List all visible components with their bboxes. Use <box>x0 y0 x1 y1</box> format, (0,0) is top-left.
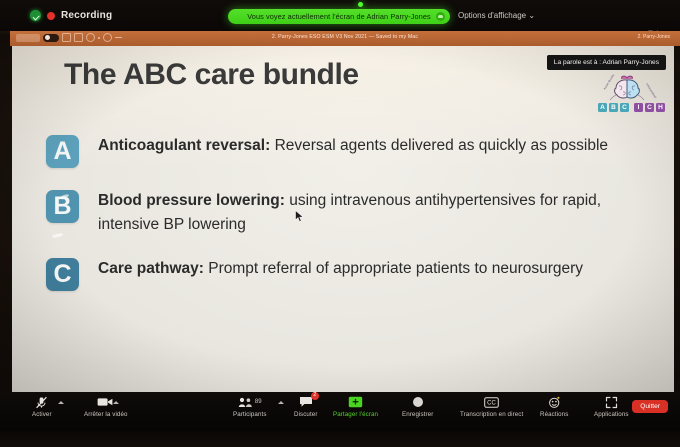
reactions-label: Réactions <box>540 411 568 418</box>
chat-unread-badge: 2 <box>311 392 319 400</box>
svg-text:Intracerebral: Intracerebral <box>645 82 657 99</box>
webcam-led-icon <box>358 2 363 7</box>
slide-title: The ABC care bundle <box>64 58 359 92</box>
powerpoint-title-bar: 2. Parry-Jones ESO ESM V3 Nov 2021 — Sav… <box>10 31 680 46</box>
applications-button[interactable]: Applications <box>594 395 629 418</box>
logo-tile-i: I <box>634 103 643 112</box>
video-camera-icon <box>97 395 114 409</box>
participants-options-chevron-icon[interactable] <box>278 401 284 404</box>
logo-tile-a: A <box>598 103 607 112</box>
bullet-heading-b: Blood pressure lowering: <box>98 192 285 209</box>
record-icon <box>412 395 424 409</box>
monitor-bezel <box>0 431 680 447</box>
applications-label: Applications <box>594 411 629 418</box>
brain-illustration-icon: Acute Bundle Intracerebral <box>596 70 658 104</box>
leave-meeting-button[interactable]: Quitter <box>632 400 668 413</box>
screen-share-banner-text: Vous voyez actuellement l'écran de Adria… <box>247 12 431 21</box>
share-screen-icon <box>348 395 363 409</box>
display-options-button[interactable]: Options d'affichage ⌄ <box>458 11 535 20</box>
video-options-chevron-icon[interactable] <box>113 401 119 404</box>
bullet-text-a: Anticoagulant reversal: Reversal agents … <box>98 134 608 158</box>
bullet-heading-c: Care pathway: <box>98 260 204 277</box>
live-transcript-label: Transcription en direct <box>460 411 523 418</box>
abc-ich-brain-logo: Acute Bundle Intracerebral A B C I C H <box>596 70 658 112</box>
audio-options-chevron-icon[interactable] <box>58 401 64 404</box>
share-screen-button[interactable]: Partager l'écran <box>333 395 378 418</box>
care-bundle-list: A Anticoagulant reversal: Reversal agent… <box>46 134 660 312</box>
participants-count: 89 <box>255 399 262 405</box>
bullet-heading-a: Anticoagulant reversal: <box>98 137 270 154</box>
reactions-icon <box>548 395 561 409</box>
zoom-bottom-toolbar: Activer Arrêter la vidéo <box>0 392 680 447</box>
mute-button[interactable]: Activer <box>32 395 52 418</box>
presentation-slide[interactable]: The ABC care bundle La parole est à : Ad… <box>12 46 674 392</box>
abc-ich-letter-tiles: A B C I C H <box>598 103 665 112</box>
applications-icon <box>605 395 618 409</box>
list-item: B Blood pressure lowering: using intrave… <box>46 189 660 236</box>
participants-label: Participants <box>233 411 267 418</box>
powerpoint-user-label: 2. Parry-Jones <box>637 34 670 40</box>
participants-icon: 89 <box>238 395 262 409</box>
mute-button-label: Activer <box>32 411 52 418</box>
logo-tile-h: H <box>656 103 665 112</box>
chat-bubble-icon: 2 <box>299 395 313 409</box>
reactions-button[interactable]: Réactions <box>540 395 568 418</box>
recording-indicator: Recording <box>30 10 112 21</box>
bullet-body-c: Prompt referral of appropriate patients … <box>204 260 583 277</box>
bullet-body-a: Reversal agents delivered as quickly as … <box>270 137 608 154</box>
logo-tile-c2: C <box>645 103 654 112</box>
bullet-tile-c: C <box>46 258 79 291</box>
logo-tile-b: B <box>609 103 618 112</box>
list-item: A Anticoagulant reversal: Reversal agent… <box>46 134 660 168</box>
bullet-tile-a: A <box>46 135 79 168</box>
microphone-muted-icon <box>35 395 48 409</box>
mouse-cursor <box>295 210 304 223</box>
bullet-text-c: Care pathway: Prompt referral of appropr… <box>98 257 583 281</box>
active-speaker-badge: La parole est à : Adrian Parry-Jones <box>547 55 666 70</box>
zoom-top-bar: Recording Vous voyez actuellement l'écra… <box>0 0 680 31</box>
logo-tile-c: C <box>620 103 629 112</box>
chat-label: Discuter <box>294 411 318 418</box>
recording-label: Recording <box>61 10 112 21</box>
share-screen-label: Partager l'écran <box>333 411 378 418</box>
recording-dot-icon <box>47 12 55 20</box>
closed-caption-icon: CC <box>484 395 499 409</box>
list-item: C Care pathway: Prompt referral of appro… <box>46 257 660 291</box>
record-label: Enregistrer <box>402 411 433 418</box>
record-button[interactable]: Enregistrer <box>402 395 433 418</box>
screen-share-banner[interactable]: Vous voyez actuellement l'écran de Adria… <box>228 9 450 24</box>
live-transcript-button[interactable]: CC Transcription en direct <box>460 395 523 418</box>
participants-button[interactable]: 89 Participants <box>233 395 267 418</box>
chat-button[interactable]: 2 Discuter <box>294 395 318 418</box>
svg-text:Acute Bundle: Acute Bundle <box>602 73 615 91</box>
svg-text:CC: CC <box>487 400 496 406</box>
stop-video-button[interactable]: Arrêter la vidéo <box>84 395 128 418</box>
powerpoint-document-title: 2. Parry-Jones ESO ESM V3 Nov 2021 — Sav… <box>10 34 680 40</box>
share-indicator-icon <box>436 12 445 21</box>
stop-video-label: Arrêter la vidéo <box>84 411 128 418</box>
bullet-text-b: Blood pressure lowering: using intraveno… <box>98 189 658 236</box>
security-shield-icon[interactable] <box>30 10 41 21</box>
